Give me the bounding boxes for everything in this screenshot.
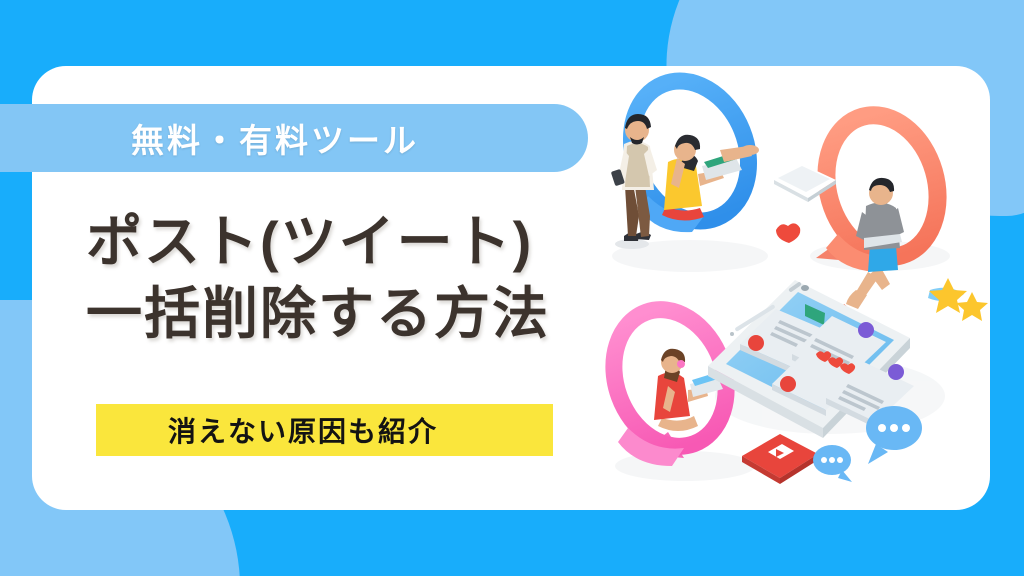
- heart-icon: [776, 223, 800, 243]
- chat-bubble-small-icon: [813, 445, 852, 482]
- hero-illustration: [580, 66, 990, 510]
- stars-ribbon-icon: [928, 278, 988, 321]
- category-badge: 無料・有料ツール: [0, 104, 588, 172]
- page-title-line-1: ポスト(ツイート): [86, 206, 550, 278]
- page-title: ポスト(ツイート) 一括削除する方法: [86, 206, 550, 349]
- poster-canvas: 無料・有料ツール ポスト(ツイート) 一括削除する方法 消えない原因も紹介: [0, 0, 1024, 576]
- category-badge-label: 無料・有料ツール: [131, 114, 419, 162]
- chat-bubble-large-icon: [866, 406, 922, 464]
- red-video-card-icon: [742, 434, 818, 484]
- page-title-line-2: 一括削除する方法: [86, 278, 550, 350]
- subtitle-highlight-bar: 消えない原因も紹介: [96, 404, 553, 456]
- subtitle-highlight-label: 消えない原因も紹介: [168, 410, 438, 450]
- person-man-with-phone: [611, 114, 657, 249]
